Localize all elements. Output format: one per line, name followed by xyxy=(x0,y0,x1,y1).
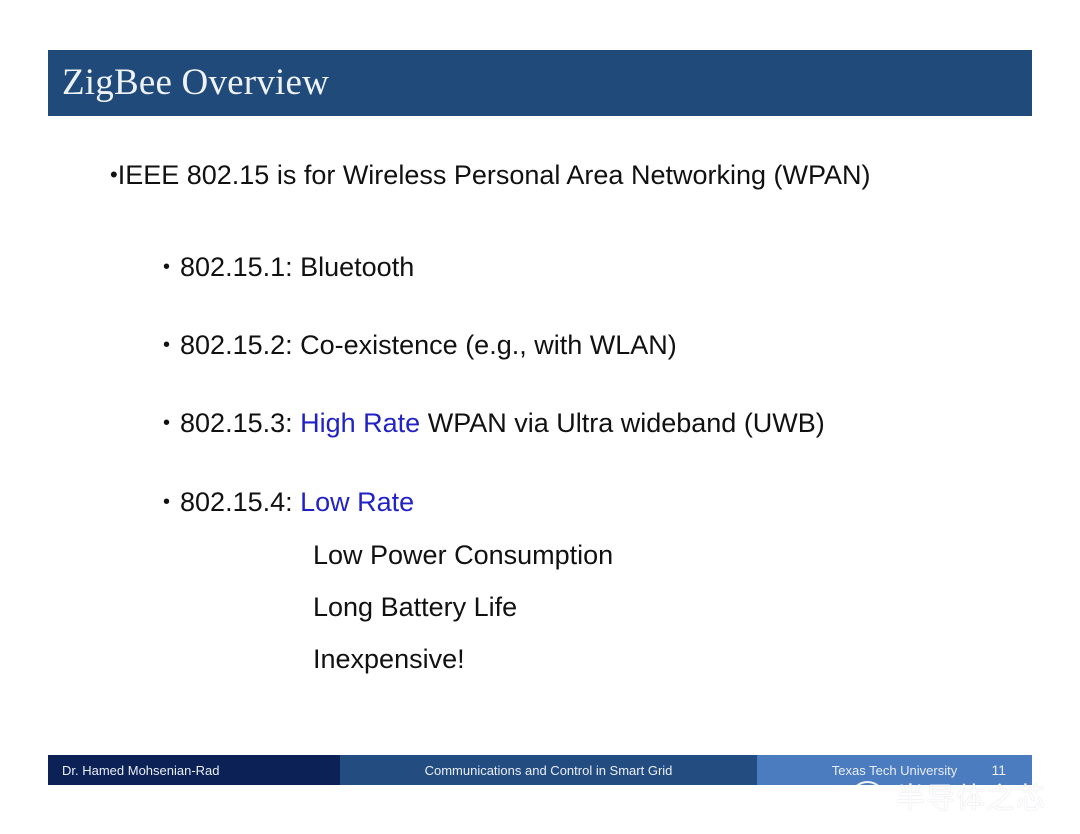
slide-canvas: ZigBee Overview •IEEE 802.15 is for Wire… xyxy=(0,0,1080,834)
bullet-glyph-icon: • xyxy=(163,412,180,434)
sub-item-battery-life: Long Battery Life xyxy=(313,592,517,623)
wechat-eye-right xyxy=(880,795,884,799)
highlight-low-rate: Low Rate xyxy=(300,487,414,517)
sub-item-low-power: Low Power Consumption xyxy=(313,540,613,571)
bullet-level2-item-3: •802.15.3: High Rate WPAN via Ultra wide… xyxy=(163,408,825,439)
slide-title-bar: ZigBee Overview xyxy=(48,50,1032,116)
sub-item-inexpensive: Inexpensive! xyxy=(313,644,465,675)
bullet-level2-label: 802.15.2: Co-existence (e.g., with WLAN) xyxy=(180,330,677,360)
bullet-glyph-icon: • xyxy=(110,162,118,187)
bullet-glyph-icon: • xyxy=(163,256,180,278)
bullet-level2-item-4: •802.15.4: Low Rate xyxy=(163,487,414,518)
bullet-level2-prefix: 802.15.4: xyxy=(180,487,300,517)
wechat-bubble-small xyxy=(865,788,894,813)
bullet-level1: •IEEE 802.15 is for Wireless Personal Ar… xyxy=(110,160,870,191)
page-title: ZigBee Overview xyxy=(62,64,329,101)
bullet-level2-prefix: 802.15.3: xyxy=(180,408,300,438)
footer-institution-label: Texas Tech University xyxy=(832,763,957,778)
footer-author-segment: Dr. Hamed Mohsenian-Rad xyxy=(48,755,340,785)
bullet-level1-label: IEEE 802.15 is for Wireless Personal Are… xyxy=(118,160,871,190)
footer-page-number: 11 xyxy=(991,762,1006,778)
bullet-level2-suffix: WPAN via Ultra wideband (UWB) xyxy=(420,408,825,438)
footer-course-segment: Communications and Control in Smart Grid xyxy=(340,755,757,785)
slide-footer: Dr. Hamed Mohsenian-Rad Communications a… xyxy=(48,755,1032,785)
highlight-high-rate: High Rate xyxy=(300,408,420,438)
slide-body: •IEEE 802.15 is for Wireless Personal Ar… xyxy=(48,150,1032,730)
footer-author-label: Dr. Hamed Mohsenian-Rad xyxy=(62,763,220,778)
footer-institution-segment: Texas Tech University 11 xyxy=(757,755,1032,785)
bullet-level2-item-2: •802.15.2: Co-existence (e.g., with WLAN… xyxy=(163,330,677,361)
bullet-level2-item-1: •802.15.1: Bluetooth xyxy=(163,252,414,283)
bullet-glyph-icon: • xyxy=(163,491,180,513)
bullet-glyph-icon: • xyxy=(163,334,180,356)
footer-course-label: Communications and Control in Smart Grid xyxy=(425,763,673,778)
bullet-level2-label: 802.15.1: Bluetooth xyxy=(180,252,414,282)
wechat-eye-left xyxy=(871,795,875,799)
